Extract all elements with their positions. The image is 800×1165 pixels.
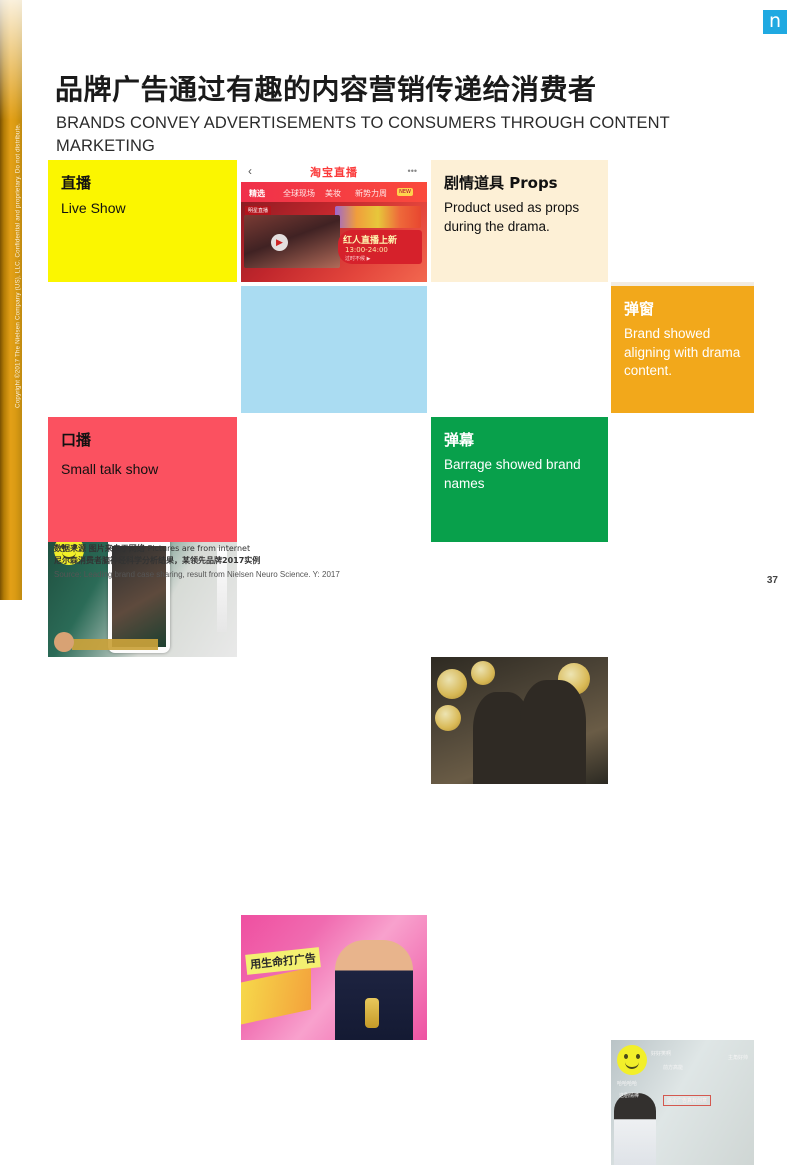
tile-small-talk-zh: 口播 (61, 431, 224, 449)
taobao-topbar: ‹ 淘宝直播 ••• (241, 160, 427, 182)
tile-barrage: 弹幕 Barrage showed brand names (431, 417, 608, 542)
barrage-comment-1: 好好笑啊 (651, 1050, 671, 1057)
barrage-comment-4: 这剧情棒 (619, 1092, 639, 1099)
promo-sub: 过时不候 ▶ (345, 255, 370, 262)
content-grid: 直播 Live Show ‹ 淘宝直播 ••• 精选 全球现场 美妆 新势力周 … (48, 160, 754, 542)
stage-tag: 明星直播 (245, 206, 271, 215)
back-icon[interactable]: ‹ (248, 164, 252, 178)
lantern-3 (435, 705, 461, 731)
tile-blank-blue (241, 286, 427, 413)
play-icon[interactable]: ▶ (271, 234, 288, 251)
tile-props-en: Product used as props during the drama. (444, 199, 595, 236)
nav-tab-beauty[interactable]: 美妆 (325, 188, 341, 199)
character-figure (614, 1093, 656, 1165)
audience-face (54, 632, 74, 652)
smiley-face-icon (617, 1045, 647, 1075)
tile-props: 剧情道具 Props Product used as props during … (431, 160, 608, 282)
subtitle-bar (72, 639, 158, 650)
sidebar-fade (0, 0, 22, 120)
tile-popup: 弹窗 Brand showed aligning with drama cont… (611, 286, 754, 413)
more-icon[interactable]: ••• (408, 166, 417, 176)
page-title-english: BRANDS CONVEY ADVERTISEMENTS TO CONSUMER… (56, 112, 716, 158)
streamer-thumbnail (244, 215, 340, 268)
microphone-prop (365, 998, 379, 1028)
nav-badge: NEW (397, 188, 413, 196)
nav-tab-global[interactable]: 全球现场 (283, 188, 315, 199)
actor-silhouette-right (520, 680, 586, 784)
source-footer: 数据来源 图片来自于网络 Pictures are from internet … (54, 543, 474, 581)
source-line-1: 数据来源 图片来自于网络 Pictures are from internet (54, 543, 474, 555)
tile-live-show-zh: 直播 (61, 174, 224, 192)
tile-props-zh-label: 剧情道具 (444, 174, 504, 192)
source-line-1-en: Pictures are from internet (148, 544, 251, 553)
taobao-stage: 明星直播 ▶ 红人直播上新 13:00-24:00 过时不候 ▶ (241, 202, 427, 282)
photo-drama-scene (431, 657, 608, 784)
product-color-strip (335, 206, 421, 228)
nav-tab-featured[interactable]: 精选 (249, 188, 265, 199)
nielsen-logo: n (763, 10, 787, 34)
set-ribbon (241, 968, 311, 1025)
promo-title: 红人直播上新 (343, 233, 397, 246)
lantern-1 (437, 669, 467, 699)
photo-taobao-live: ‹ 淘宝直播 ••• 精选 全球现场 美妆 新势力周 NEW 明星直播 ▶ 红人… (241, 160, 427, 282)
tile-props-zh: 剧情道具 Props (444, 174, 595, 192)
nav-tab-newpower[interactable]: 新势力周 (355, 188, 387, 199)
source-line-2: 尼尔森消费者脑神经科学分析结果，某领先品牌2017实例 (54, 555, 474, 567)
tile-small-talk-en: Small talk show (61, 460, 224, 479)
page-number: 37 (767, 575, 778, 586)
tile-props-en-label: Props (509, 174, 557, 192)
photo-barrage-screen: 好好笑啊 前方高能 哈哈哈哈 这剧情棒 主角好帅 这个广告真有创意 (611, 1040, 754, 1165)
promo-time: 13:00-24:00 (345, 246, 388, 254)
tile-small-talk: 口播 Small talk show (48, 417, 237, 542)
source-line-1-zh: 数据来源 图片来自于网络 (54, 544, 145, 553)
copyright-sidebar: Copyright ©2017 The Nielsen Company (US)… (0, 0, 22, 600)
tile-live-show: 直播 Live Show (48, 160, 237, 282)
tile-barrage-en: Barrage showed brand names (444, 456, 595, 493)
barrage-comment-3: 哈哈哈哈 (617, 1080, 637, 1087)
photo-talk-show: 用生命打广告 (241, 915, 427, 1040)
barrage-brand-highlight: 这个广告真有创意 (663, 1095, 711, 1106)
taobao-live-logo: 淘宝直播 (310, 164, 358, 180)
tile-live-show-en: Live Show (61, 199, 224, 218)
smiley-mouth (625, 1059, 639, 1069)
lantern-2 (471, 661, 495, 685)
barrage-comment-2: 前方高能 (663, 1064, 683, 1071)
page-title-chinese: 品牌广告通过有趣的内容营销传递给消费者 (55, 68, 597, 108)
promo-banner[interactable]: 红人直播上新 13:00-24:00 过时不候 ▶ (338, 230, 422, 264)
source-line-3: Source: Leading brand case sharing, resu… (54, 568, 474, 581)
taobao-nav-tabs: 精选 全球现场 美妆 新势力周 NEW (241, 182, 427, 202)
tile-popup-zh: 弹窗 (624, 300, 741, 318)
barrage-comment-5: 主角好帅 (728, 1054, 748, 1061)
tile-barrage-zh: 弹幕 (444, 431, 595, 449)
tile-popup-en: Brand showed aligning with drama content… (624, 325, 741, 381)
